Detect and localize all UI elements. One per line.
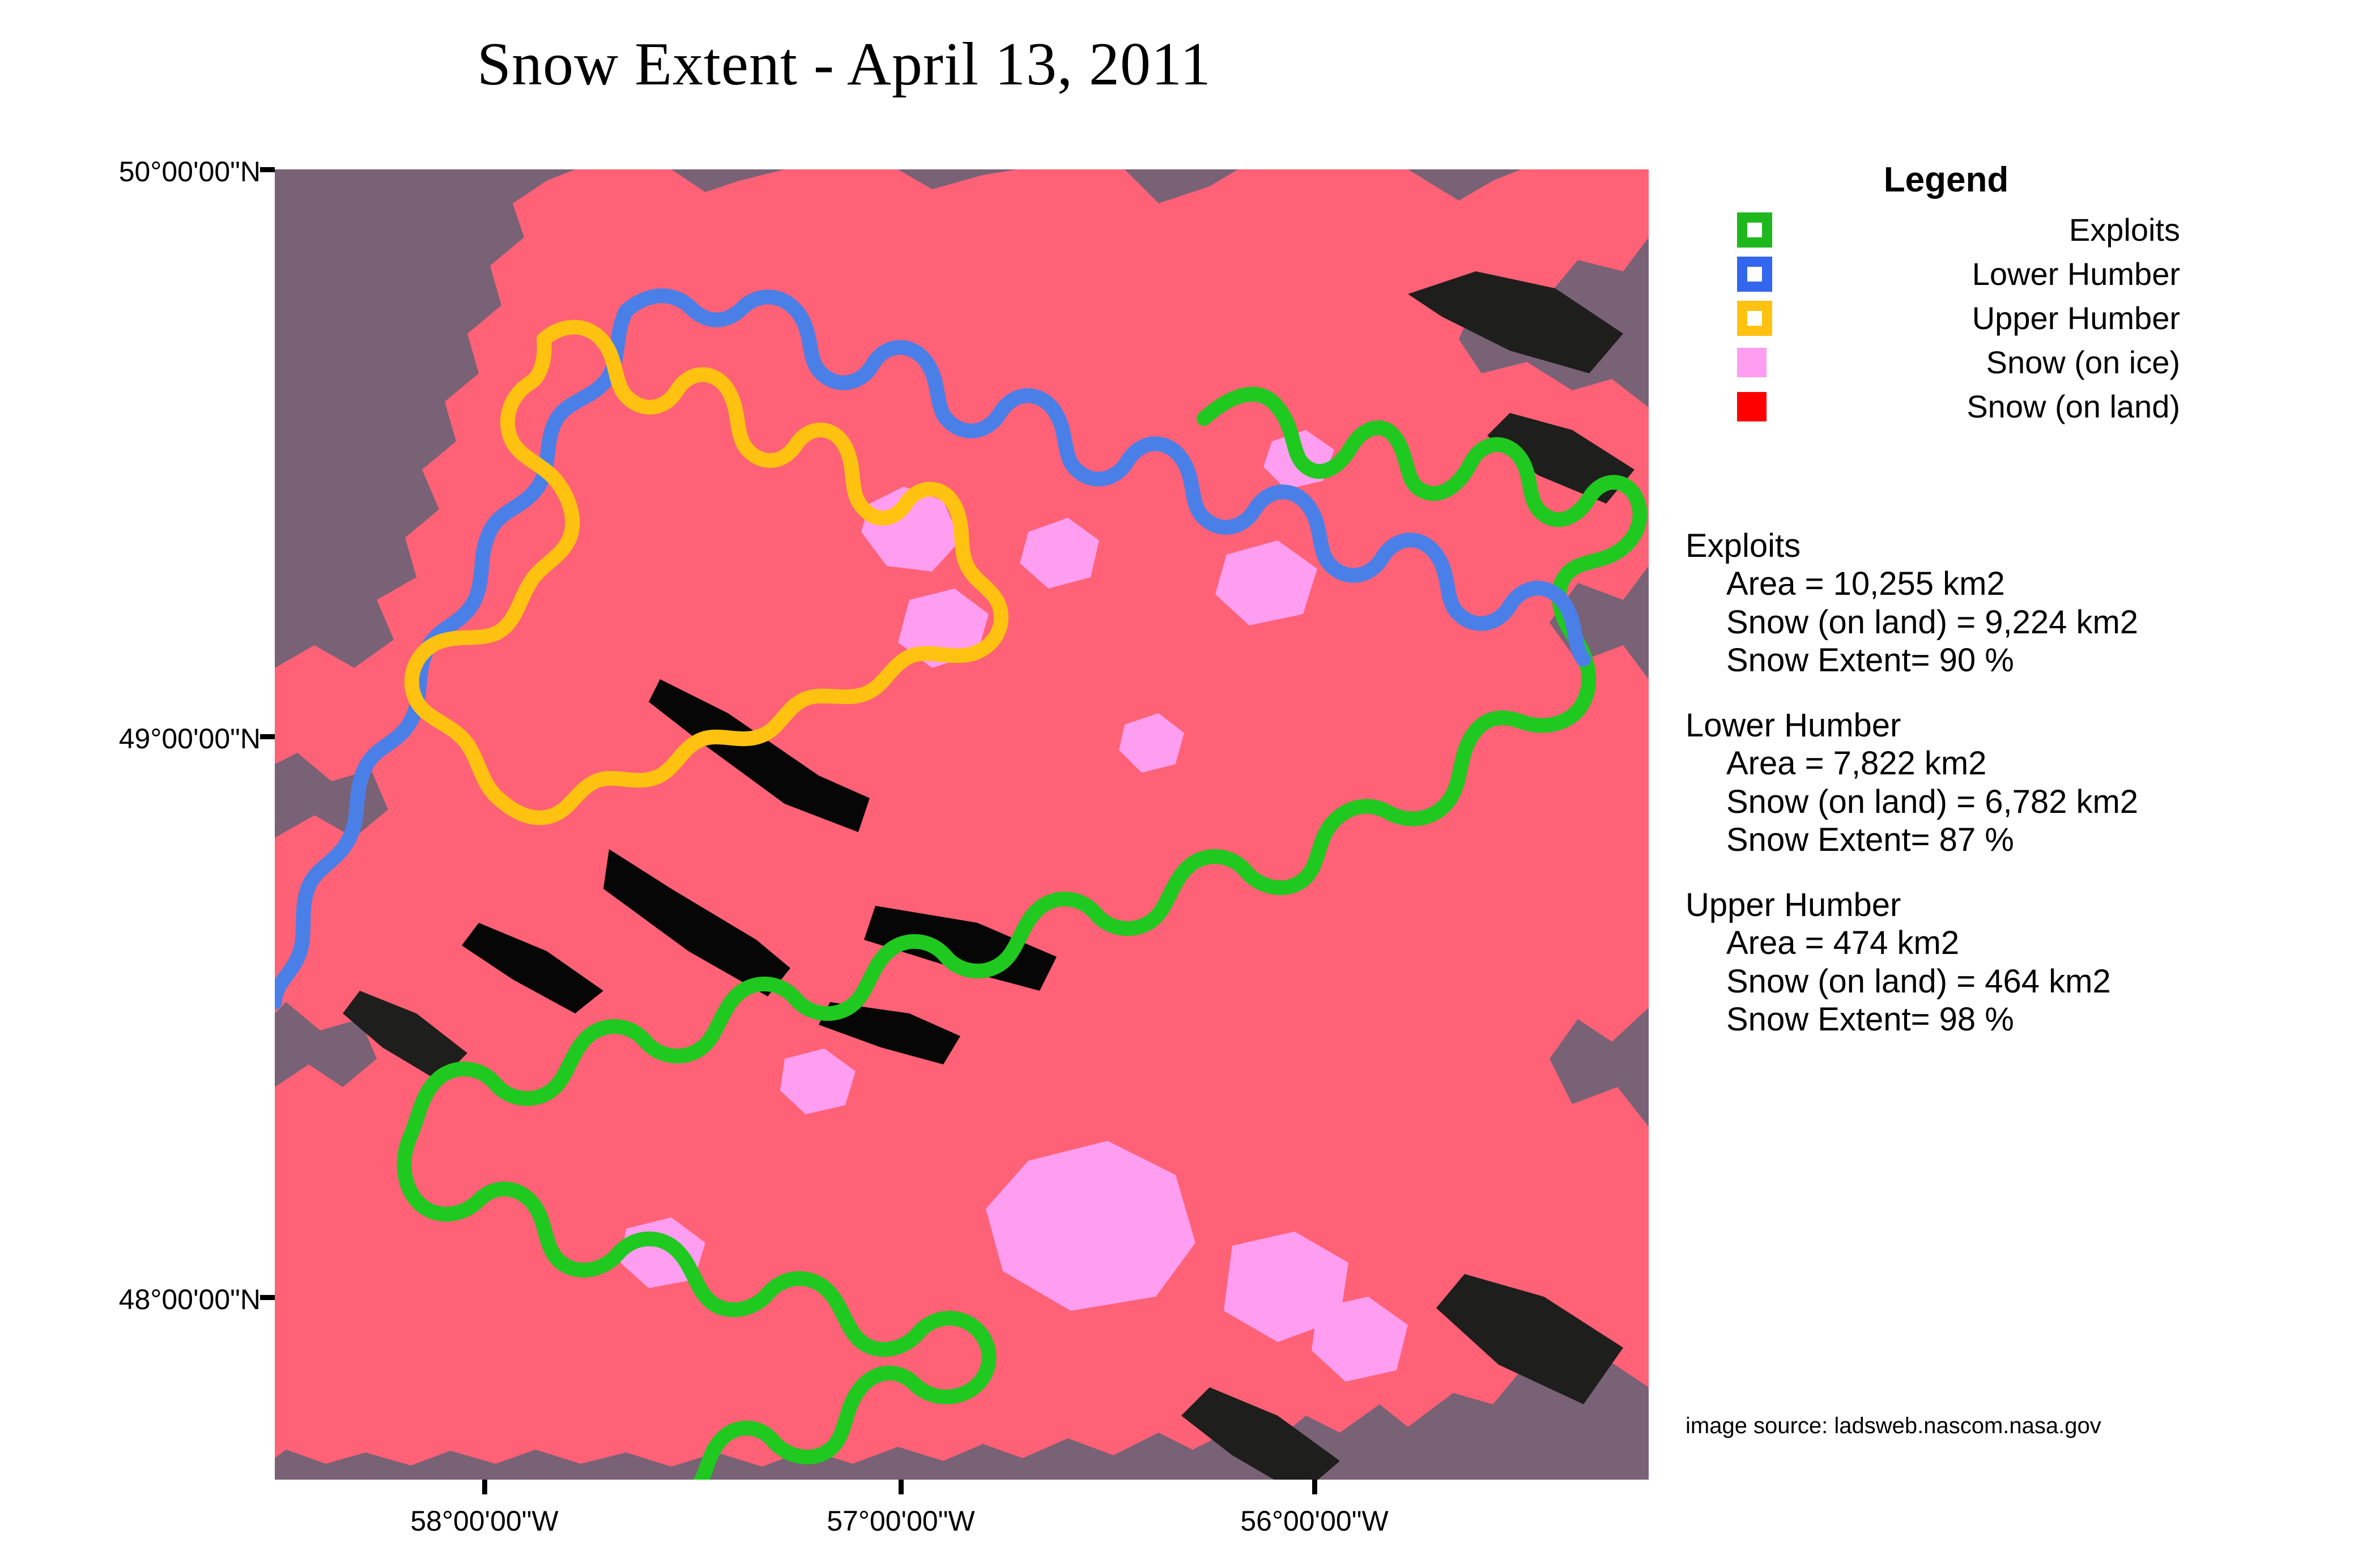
statistics-panel: Exploits Area = 10,255 km2 Snow (on land… bbox=[1686, 527, 2365, 1066]
stat-area-exploits: Area = 10,255 km2 bbox=[1686, 565, 2365, 603]
legend-swatch-exploits-icon bbox=[1737, 212, 1772, 248]
stat-area-lower-humber: Area = 7,822 km2 bbox=[1686, 744, 2365, 782]
legend-title: Legend bbox=[1700, 160, 2193, 200]
lat-tick-label-48: 48°00'00"N bbox=[119, 1283, 261, 1316]
lat-tick-label-50: 50°00'00"N bbox=[119, 155, 261, 188]
stat-area-upper-humber: Area = 474 km2 bbox=[1686, 924, 2365, 962]
legend-item-snow-on-ice[interactable]: Snow (on ice) bbox=[1700, 340, 2193, 385]
legend-swatch-cell bbox=[1700, 348, 1773, 377]
legend-label-snow-on-land: Snow (on land) bbox=[1773, 391, 2193, 423]
lon-tick-label-56: 56°00'00"W bbox=[1240, 1505, 1388, 1537]
legend-swatch-cell bbox=[1700, 301, 1773, 336]
stat-snow-extent-lower-humber: Snow Extent= 87 % bbox=[1686, 821, 2365, 859]
stat-basin-name-lower-humber: Lower Humber bbox=[1686, 706, 2365, 744]
legend-swatch-snow-on-land-icon bbox=[1737, 392, 1767, 421]
stat-basin-name-upper-humber: Upper Humber bbox=[1686, 886, 2365, 924]
stat-snow-on-land-lower-humber: Snow (on land) = 6,782 km2 bbox=[1686, 783, 2365, 821]
lon-tick-label-58: 58°00'00"W bbox=[410, 1505, 558, 1537]
lon-tick-mark-57 bbox=[899, 1480, 904, 1494]
legend-swatch-snow-on-ice-icon bbox=[1737, 348, 1767, 377]
legend-item-upper-humber[interactable]: Upper Humber bbox=[1700, 296, 2193, 340]
map-canvas-frame[interactable] bbox=[275, 169, 1649, 1480]
legend-label-exploits: Exploits bbox=[1773, 214, 2193, 246]
stat-block-lower-humber: Lower Humber Area = 7,822 km2 Snow (on l… bbox=[1686, 706, 2365, 859]
lat-tick-mark-49 bbox=[260, 734, 275, 739]
lon-tick-mark-58 bbox=[482, 1480, 487, 1494]
stat-snow-on-land-upper-humber: Snow (on land) = 464 km2 bbox=[1686, 962, 2365, 1000]
stat-basin-name-exploits: Exploits bbox=[1686, 527, 2365, 565]
legend-panel: Legend Exploits Lower Humber Upper Humbe… bbox=[1700, 160, 2193, 429]
stat-snow-on-land-exploits: Snow (on land) = 9,224 km2 bbox=[1686, 603, 2365, 641]
lat-tick-label-49: 49°00'00"N bbox=[119, 722, 261, 755]
lon-tick-label-57: 57°00'00"W bbox=[827, 1505, 974, 1537]
legend-swatch-lower-humber-icon bbox=[1737, 257, 1772, 292]
legend-label-snow-on-ice: Snow (on ice) bbox=[1773, 347, 2193, 378]
legend-swatch-cell bbox=[1700, 212, 1773, 248]
legend-label-upper-humber: Upper Humber bbox=[1773, 302, 2193, 334]
legend-swatch-upper-humber-icon bbox=[1737, 301, 1772, 336]
lat-tick-mark-50 bbox=[260, 167, 275, 172]
snow-on-ice-region bbox=[275, 169, 1649, 1480]
page-title: Snow Extent - April 13, 2011 bbox=[0, 29, 1688, 100]
legend-swatch-cell bbox=[1700, 392, 1773, 421]
stat-snow-extent-upper-humber: Snow Extent= 98 % bbox=[1686, 1000, 2365, 1038]
lon-tick-mark-56 bbox=[1312, 1480, 1317, 1494]
legend-label-lower-humber: Lower Humber bbox=[1773, 258, 2193, 290]
lat-tick-mark-48 bbox=[260, 1295, 275, 1300]
stat-snow-extent-exploits: Snow Extent= 90 % bbox=[1686, 641, 2365, 679]
stat-block-exploits: Exploits Area = 10,255 km2 Snow (on land… bbox=[1686, 527, 2365, 679]
stat-block-upper-humber: Upper Humber Area = 474 km2 Snow (on lan… bbox=[1686, 886, 2365, 1038]
image-source-caption: image source: ladsweb.nascom.nasa.gov bbox=[1686, 1413, 2101, 1439]
legend-swatch-cell bbox=[1700, 257, 1773, 292]
legend-item-lower-humber[interactable]: Lower Humber bbox=[1700, 252, 2193, 296]
snow-extent-raster[interactable] bbox=[275, 169, 1649, 1480]
legend-item-exploits[interactable]: Exploits bbox=[1700, 208, 2193, 252]
legend-item-snow-on-land[interactable]: Snow (on land) bbox=[1700, 385, 2193, 429]
